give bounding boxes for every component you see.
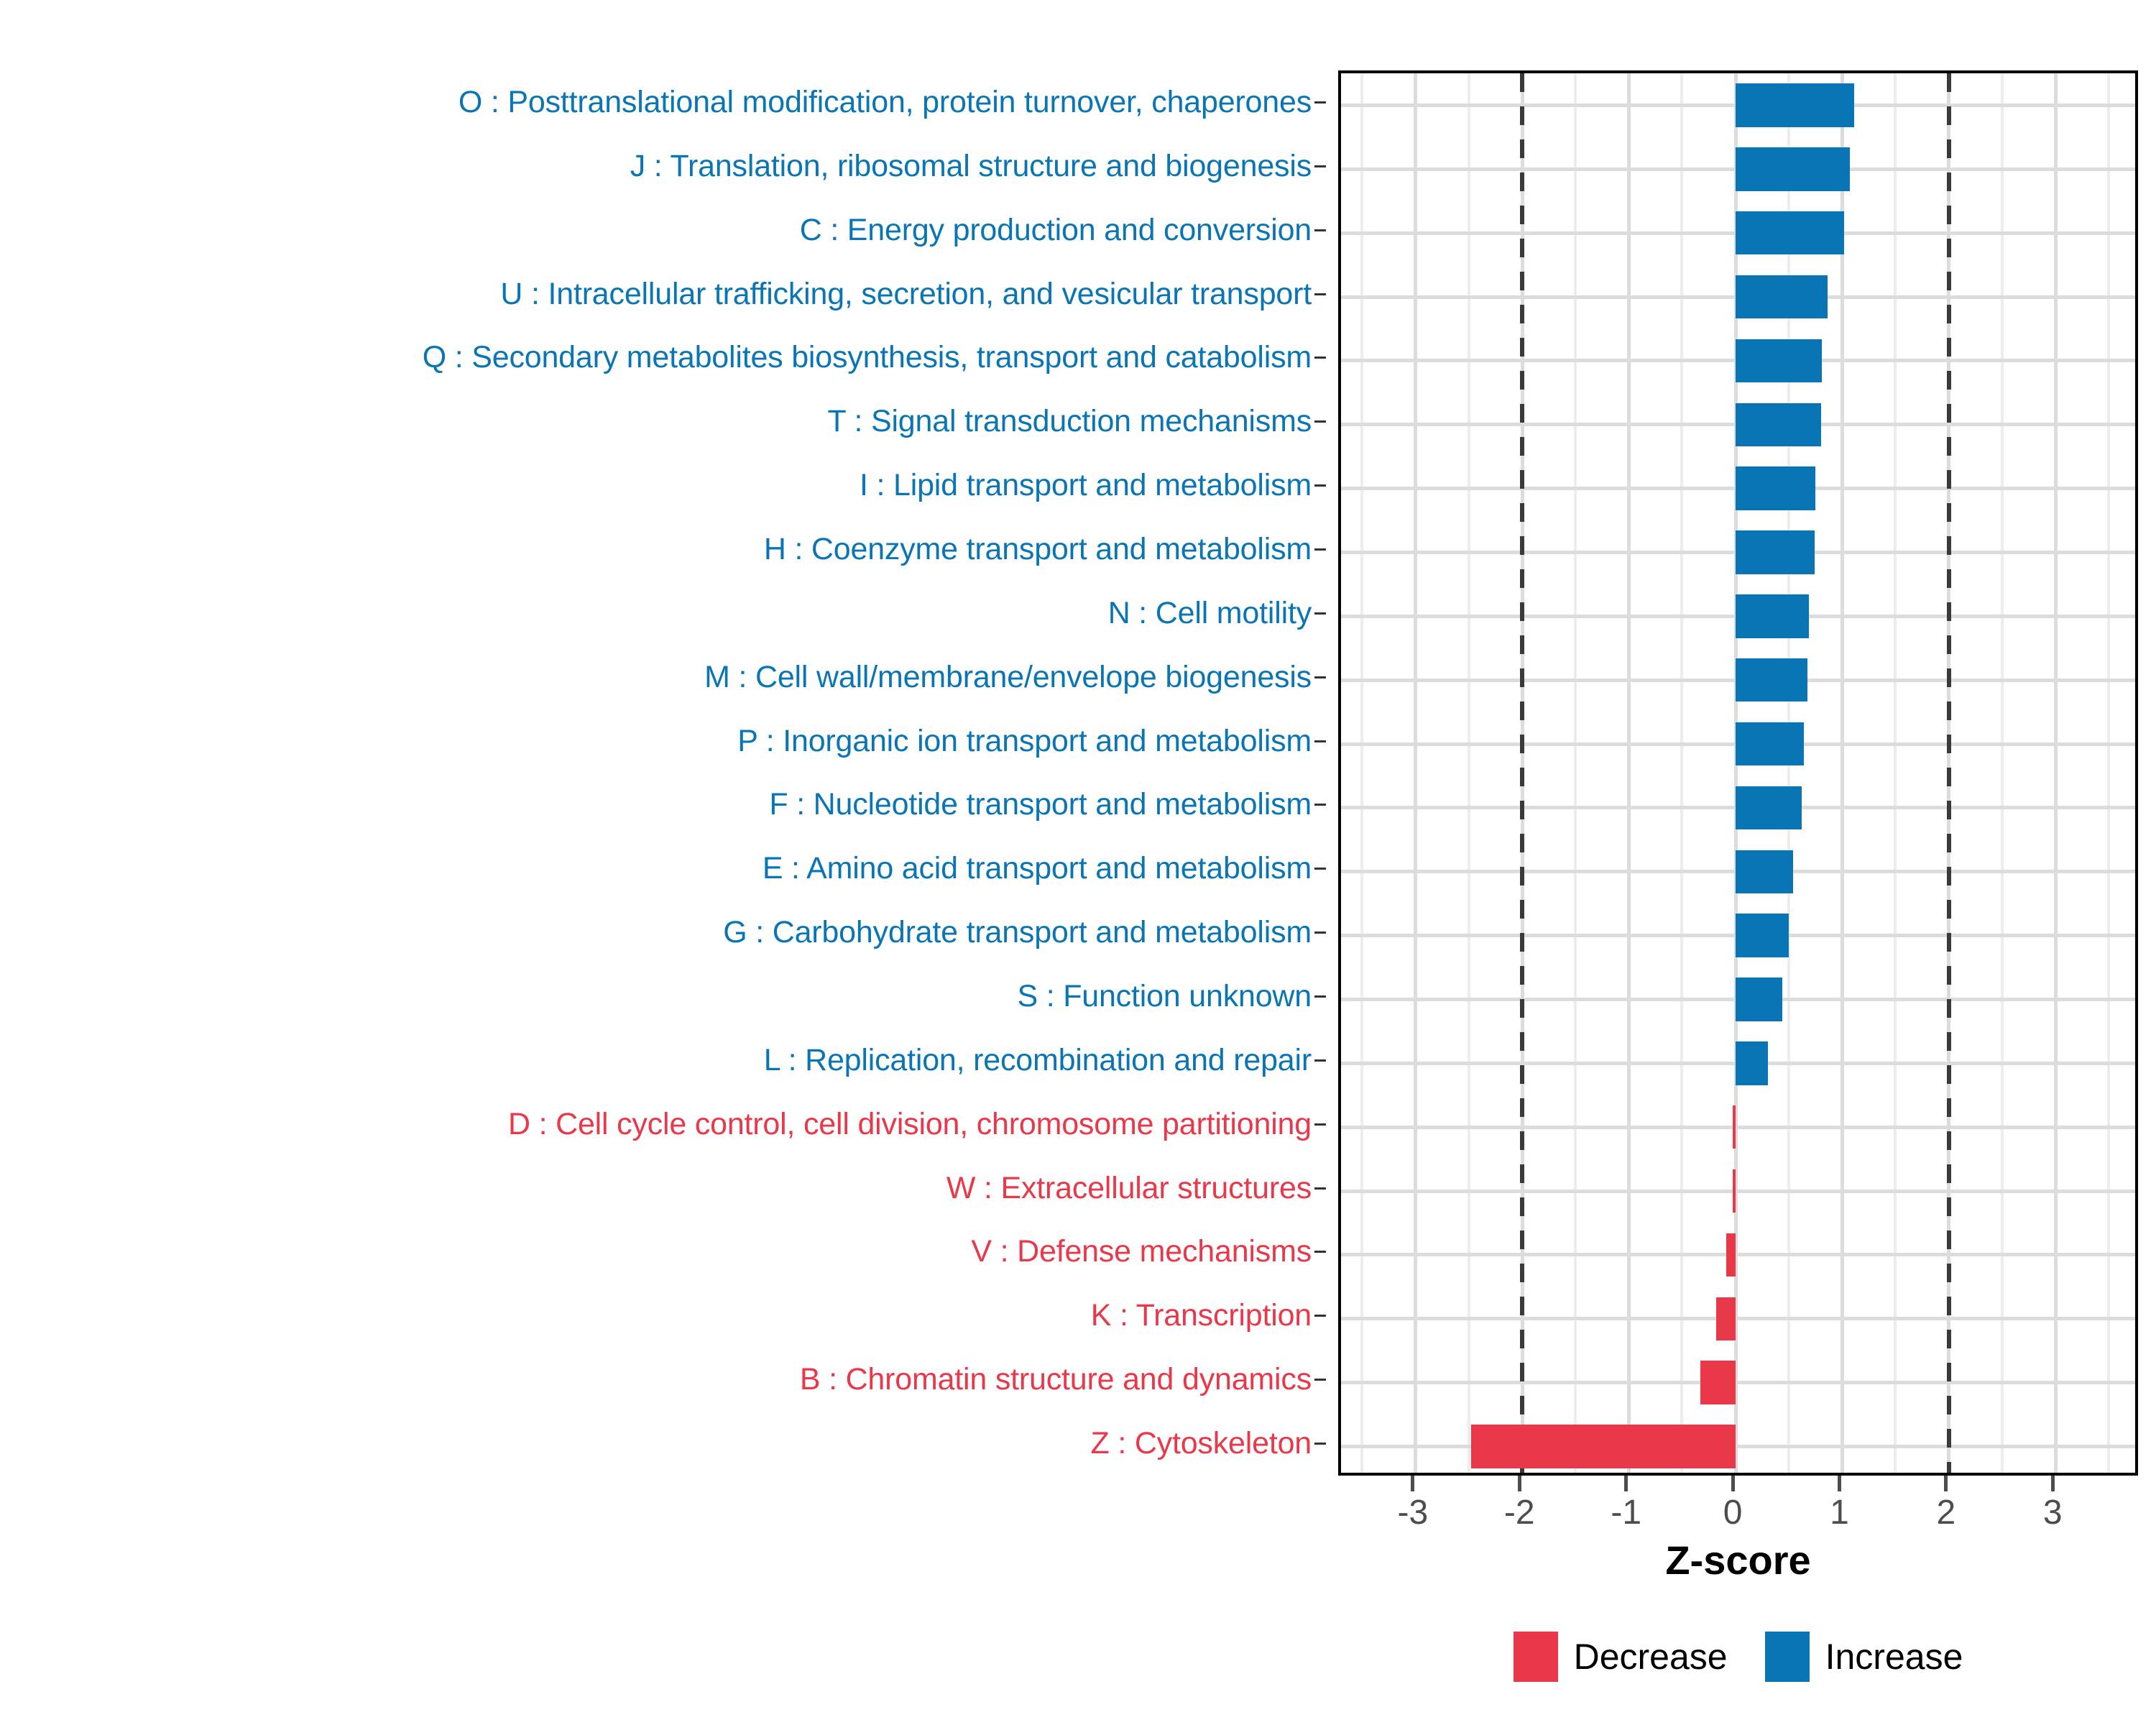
category-label-row: C : Energy production and conversion [0, 198, 1326, 262]
legend-label: Decrease [1574, 1636, 1728, 1678]
category-label-row: Z : Cytoskeleton [0, 1412, 1326, 1476]
category-label-row: I : Lipid transport and metabolism [0, 454, 1326, 517]
bar [1726, 1233, 1736, 1276]
legend-item[interactable]: Increase [1765, 1632, 1963, 1682]
category-label-row: B : Chromatin structure and dynamics [0, 1348, 1326, 1412]
bar [1736, 83, 1854, 126]
x-axis-tick [1411, 1476, 1414, 1491]
category-label-row: F : Nucleotide transport and metabolism [0, 773, 1326, 837]
gridline-vertical-minor [1894, 73, 1897, 1473]
category-label: W : Extracellular structures [946, 1173, 1312, 1204]
cog-zscore-barchart: O : Posttranslational modification, prot… [0, 0, 2156, 1725]
y-axis-tick-icon [1314, 1187, 1326, 1190]
category-label: H : Coenzyme transport and metabolism [764, 534, 1312, 565]
y-axis-tick-icon [1314, 548, 1326, 551]
x-axis-tick-label: -1 [1611, 1493, 1641, 1532]
category-label-column: O : Posttranslational modification, prot… [0, 70, 1326, 1476]
y-axis-tick-icon [1314, 868, 1326, 870]
category-label-row: D : Cell cycle control, cell division, c… [0, 1092, 1326, 1156]
category-label-row: O : Posttranslational modification, prot… [0, 70, 1326, 134]
x-axis-title: Z-score [1338, 1537, 2138, 1583]
category-label: B : Chromatin structure and dynamics [800, 1364, 1312, 1395]
category-label-row: V : Defense mechanisms [0, 1220, 1326, 1284]
y-axis-tick-icon [1314, 1443, 1326, 1445]
category-label: K : Transcription [1091, 1300, 1312, 1331]
category-label: M : Cell wall/membrane/envelope biogenes… [704, 662, 1312, 693]
category-label-row: K : Transcription [0, 1284, 1326, 1348]
category-label: F : Nucleotide transport and metabolism [769, 789, 1312, 820]
category-label: O : Posttranslational modification, prot… [459, 87, 1312, 118]
bar [1700, 1361, 1736, 1404]
y-axis-tick-icon [1314, 931, 1326, 934]
category-label: T : Signal transduction mechanisms [827, 406, 1312, 437]
bar [1736, 914, 1789, 957]
y-axis-tick-icon [1314, 229, 1326, 231]
gridline-horizontal [1341, 1381, 2135, 1384]
gridline-horizontal [1341, 1126, 2135, 1129]
bar [1736, 275, 1828, 318]
bar [1736, 658, 1807, 701]
gridline-vertical-minor [1680, 73, 1683, 1473]
category-label-row: E : Amino acid transport and metabolism [0, 837, 1326, 901]
bar [1733, 1105, 1736, 1149]
bar [1736, 403, 1821, 446]
gridline-vertical-minor [1574, 73, 1577, 1473]
gridline-vertical [1627, 73, 1631, 1473]
bar [1471, 1425, 1736, 1468]
x-axis-tick [1838, 1476, 1841, 1491]
bar [1716, 1297, 1736, 1340]
category-label-row: T : Signal transduction mechanisms [0, 390, 1326, 454]
gridline-vertical [1414, 73, 1417, 1473]
y-axis-tick-icon [1314, 1315, 1326, 1317]
y-axis-tick-icon [1314, 165, 1326, 167]
bar [1736, 722, 1804, 765]
category-label: Z : Cytoskeleton [1091, 1428, 1312, 1459]
category-label: N : Cell motility [1108, 598, 1312, 629]
y-axis-tick-icon [1314, 101, 1326, 103]
category-label: I : Lipid transport and metabolism [860, 470, 1312, 501]
category-label-row: N : Cell motility [0, 581, 1326, 645]
y-axis-tick-icon [1314, 1059, 1326, 1062]
legend-swatch-icon [1765, 1632, 1810, 1682]
gridline-vertical [2054, 73, 2058, 1473]
gridline-horizontal [1341, 1445, 2135, 1448]
x-axis-tick-label: 0 [1723, 1493, 1743, 1532]
reference-line [1947, 73, 1951, 1473]
bar [1736, 786, 1802, 829]
y-axis-tick-icon [1314, 1123, 1326, 1126]
bar [1736, 850, 1793, 893]
y-axis-tick-icon [1314, 676, 1326, 678]
bar [1736, 594, 1809, 638]
bar [1736, 466, 1815, 510]
gridline-horizontal [1341, 1190, 2135, 1193]
y-axis-tick-icon [1314, 356, 1326, 359]
x-axis-tick-label: 2 [1937, 1493, 1956, 1532]
x-axis-tick [2051, 1476, 2055, 1491]
legend-label: Increase [1825, 1636, 1963, 1678]
bar [1736, 339, 1822, 382]
x-axis-tick-label: 3 [2043, 1493, 2063, 1532]
category-label-row: J : Translation, ribosomal structure and… [0, 134, 1326, 198]
category-label-row: Q : Secondary metabolites biosynthesis, … [0, 326, 1326, 390]
gridline-vertical-minor [1468, 73, 1470, 1473]
gridline-vertical-minor [2107, 73, 2110, 1473]
gridline-vertical-minor [1360, 73, 1363, 1473]
category-label: S : Function unknown [1017, 981, 1312, 1012]
category-label: U : Intracellular trafficking, secretion… [500, 279, 1312, 310]
category-label-row: M : Cell wall/membrane/envelope biogenes… [0, 645, 1326, 709]
y-axis-tick-icon [1314, 740, 1326, 742]
category-label: J : Translation, ribosomal structure and… [630, 151, 1312, 182]
category-label: L : Replication, recombination and repai… [764, 1045, 1312, 1076]
bar [1736, 147, 1850, 190]
y-axis-tick-icon [1314, 1251, 1326, 1253]
x-axis-tick-label: -3 [1398, 1493, 1429, 1532]
category-label: E : Amino acid transport and metabolism [763, 853, 1312, 884]
gridline-vertical [1841, 73, 1844, 1473]
gridline-horizontal [1341, 1253, 2135, 1256]
category-label-row: U : Intracellular trafficking, secretion… [0, 262, 1326, 326]
category-label-row: W : Extracellular structures [0, 1156, 1326, 1220]
category-label: C : Energy production and conversion [800, 215, 1312, 246]
x-axis-tick [1731, 1476, 1735, 1491]
x-axis-tick [1624, 1476, 1628, 1491]
x-axis-tick [1944, 1476, 1948, 1491]
x-axis-tick [1518, 1476, 1521, 1491]
y-axis-tick-icon [1314, 612, 1326, 615]
bar [1736, 1041, 1768, 1085]
plot-panel-inner [1341, 73, 2135, 1473]
legend-item[interactable]: Decrease [1514, 1632, 1728, 1682]
x-axis-tick-label: -2 [1504, 1493, 1535, 1532]
category-label-row: S : Function unknown [0, 965, 1326, 1029]
category-label: Q : Secondary metabolites biosynthesis, … [423, 342, 1312, 373]
category-label-row: H : Coenzyme transport and metabolism [0, 517, 1326, 581]
bar [1733, 1169, 1736, 1213]
category-label: V : Defense mechanisms [971, 1236, 1312, 1267]
bar [1736, 211, 1844, 254]
category-label-row: G : Carbohydrate transport and metabolis… [0, 901, 1326, 965]
legend-swatch-icon [1514, 1632, 1558, 1682]
chart-legend: DecreaseIncrease [1338, 1617, 2138, 1696]
category-label-row: L : Replication, recombination and repai… [0, 1029, 1326, 1092]
plot-panel [1338, 70, 2138, 1476]
category-label: P : Inorganic ion transport and metaboli… [737, 726, 1312, 757]
reference-line [1520, 73, 1524, 1473]
category-label: G : Carbohydrate transport and metabolis… [723, 917, 1312, 948]
category-label: D : Cell cycle control, cell division, c… [508, 1109, 1312, 1140]
y-axis-tick-icon [1314, 484, 1326, 487]
y-axis-tick-icon [1314, 995, 1326, 998]
gridline-vertical-minor [2001, 73, 2004, 1473]
x-axis-tick-label: 1 [1830, 1493, 1849, 1532]
y-axis-tick-icon [1314, 293, 1326, 295]
y-axis-tick-icon [1314, 1379, 1326, 1381]
bar [1736, 530, 1815, 574]
gridline-horizontal [1341, 1317, 2135, 1320]
bar [1736, 977, 1782, 1021]
y-axis-tick-icon [1314, 420, 1326, 423]
category-label-row: P : Inorganic ion transport and metaboli… [0, 709, 1326, 773]
y-axis-tick-icon [1314, 804, 1326, 806]
